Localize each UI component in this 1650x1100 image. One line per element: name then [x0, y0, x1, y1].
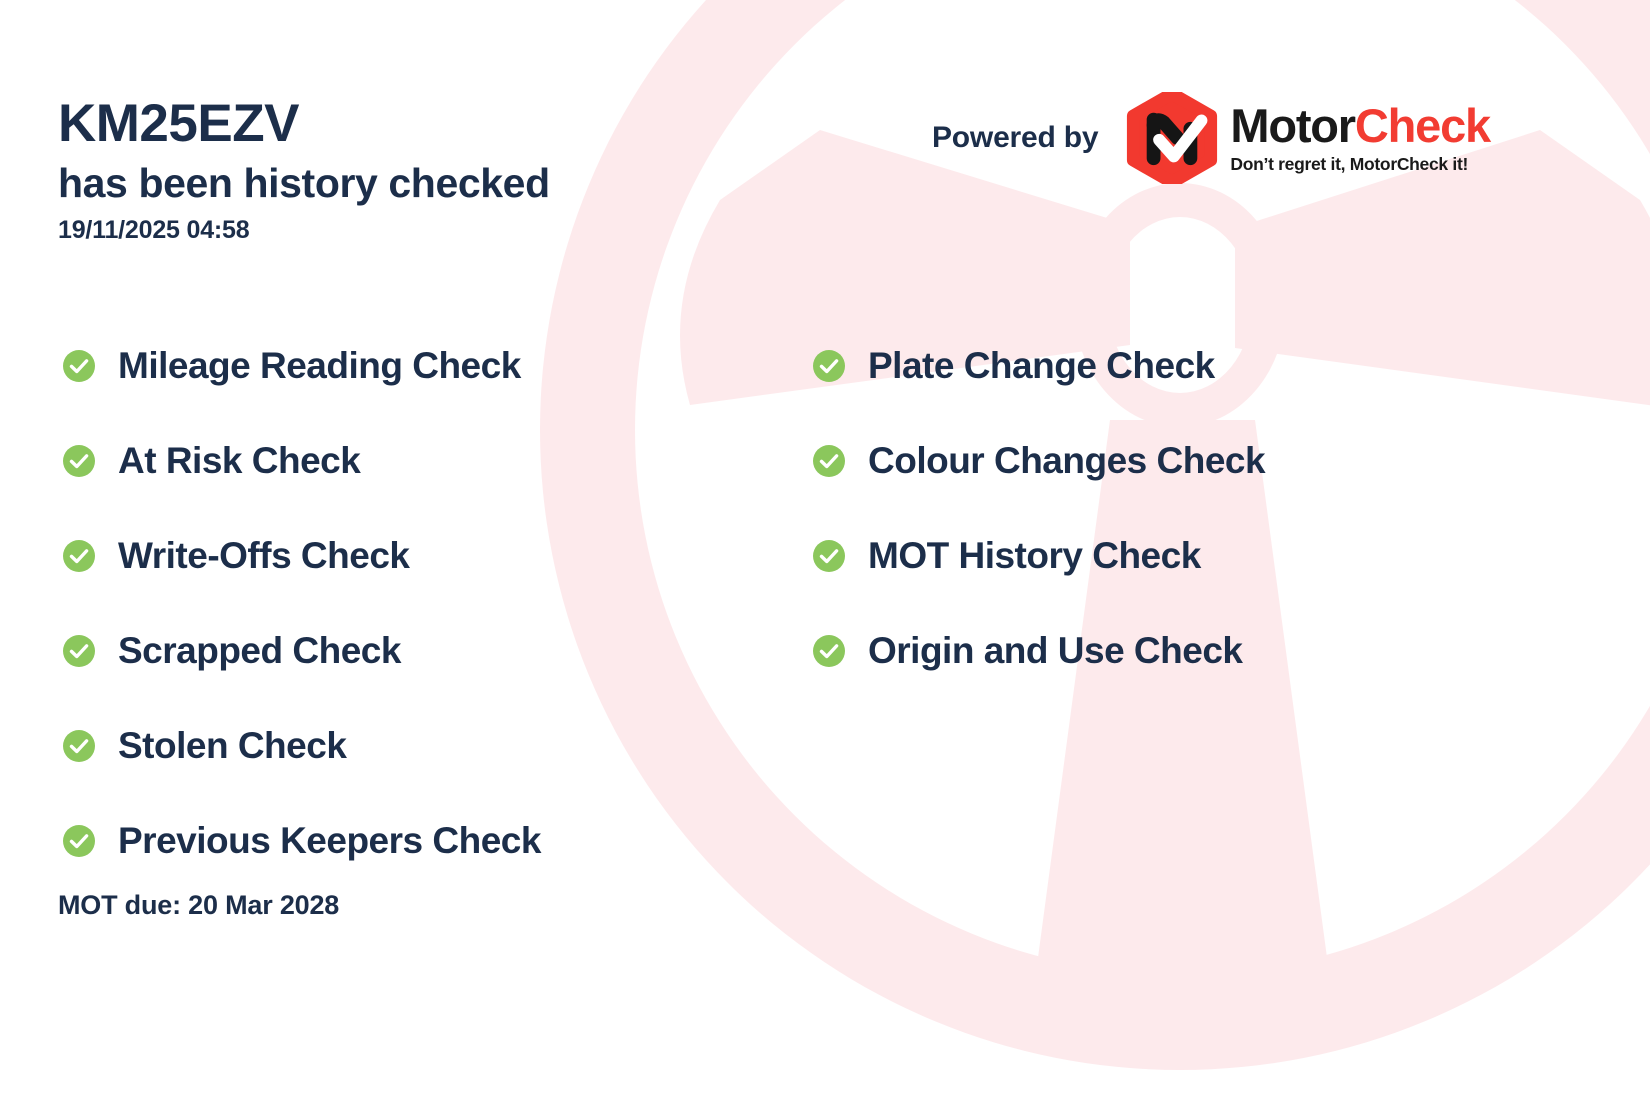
check-label: At Risk Check [118, 442, 360, 479]
green-check-circle-icon [813, 350, 845, 382]
green-check-circle-icon [63, 445, 95, 477]
check-label: Scrapped Check [118, 632, 401, 669]
list-item: Previous Keepers Check [63, 793, 541, 888]
check-label: Stolen Check [118, 727, 346, 764]
check-label: Write-Offs Check [118, 537, 410, 574]
brand-block: Powered by MotorCheck Don’t regret it, M… [932, 92, 1490, 184]
green-check-circle-icon [63, 825, 95, 857]
green-check-circle-icon [63, 635, 95, 667]
list-item: Colour Changes Check [813, 413, 1265, 508]
green-check-circle-icon [63, 540, 95, 572]
check-timestamp: 19/11/2025 04:58 [58, 216, 550, 245]
list-item: Origin and Use Check [813, 603, 1265, 698]
check-label: Plate Change Check [868, 347, 1215, 384]
list-item: Plate Change Check [813, 318, 1265, 413]
green-check-circle-icon [63, 350, 95, 382]
brand-name-check: Check [1355, 99, 1490, 152]
check-label: MOT History Check [868, 537, 1201, 574]
checks-right-column: Plate Change Check Colour Changes Check … [813, 318, 1265, 698]
check-label: Origin and Use Check [868, 632, 1243, 669]
list-item: Stolen Check [63, 698, 541, 793]
check-label: Previous Keepers Check [118, 822, 541, 859]
list-item: Scrapped Check [63, 603, 541, 698]
history-check-card: KM25EZV has been history checked 19/11/2… [0, 0, 1650, 1100]
brand-tagline: Don’t regret it, MotorCheck it! [1230, 154, 1490, 175]
brand-wordmark: MotorCheck [1230, 102, 1490, 149]
motorcheck-hexagon-logo-icon [1126, 92, 1218, 184]
check-label: Mileage Reading Check [118, 347, 521, 384]
vehicle-registration: KM25EZV [58, 96, 550, 152]
brand-name-motor: Motor [1230, 99, 1355, 152]
header-subtitle: has been history checked [58, 158, 550, 209]
mot-due-label: MOT due: 20 Mar 2028 [58, 890, 339, 921]
brand-wordmark-group: MotorCheck Don’t regret it, MotorCheck i… [1230, 102, 1490, 175]
list-item: MOT History Check [813, 508, 1265, 603]
list-item: Write-Offs Check [63, 508, 541, 603]
list-item: At Risk Check [63, 413, 541, 508]
check-label: Colour Changes Check [868, 442, 1265, 479]
green-check-circle-icon [63, 730, 95, 762]
checks-left-column: Mileage Reading Check At Risk Check Writ… [63, 318, 541, 888]
green-check-circle-icon [813, 540, 845, 572]
green-check-circle-icon [813, 635, 845, 667]
green-check-circle-icon [813, 445, 845, 477]
list-item: Mileage Reading Check [63, 318, 541, 413]
card-header: KM25EZV has been history checked 19/11/2… [58, 96, 550, 245]
powered-by-label: Powered by [932, 121, 1098, 155]
